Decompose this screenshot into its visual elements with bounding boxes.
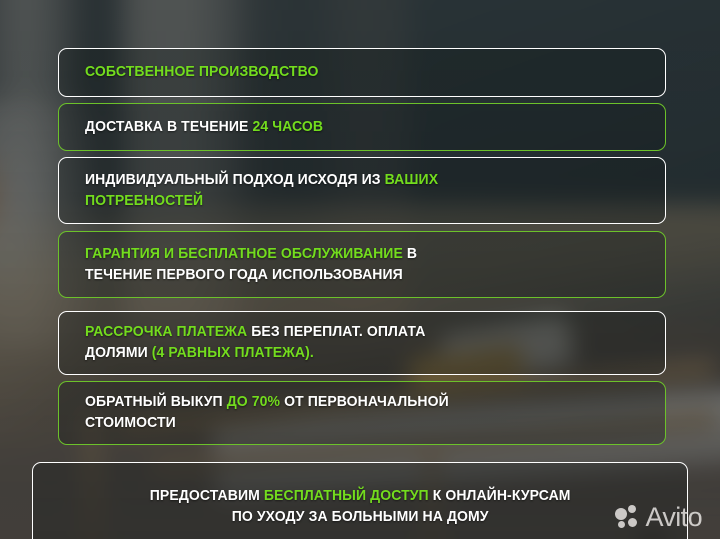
plain-text: ОБРАТНЫЙ ВЫКУП xyxy=(85,394,227,410)
highlighted-text: ДО 70% xyxy=(227,394,280,410)
plain-text: В xyxy=(403,246,417,262)
benefit-text: ДОСТАВКА В ТЕЧЕНИЕ 24 ЧАСОВ xyxy=(85,117,323,138)
plain-text: СТОИМОСТИ xyxy=(85,415,176,431)
benefit-box-delivery-24h: ДОСТАВКА В ТЕЧЕНИЕ 24 ЧАСОВ xyxy=(58,103,666,151)
highlighted-text: БЕСПЛАТНЫЙ ДОСТУП xyxy=(264,488,429,504)
benefit-box-installment-payment: РАССРОЧКА ПЛАТЕЖА БЕЗ ПЕРЕПЛАТ. ОПЛАТАДО… xyxy=(58,311,666,375)
benefit-text: ГАРАНТИЯ И БЕСПЛАТНОЕ ОБСЛУЖИВАНИЕ ВТЕЧЕ… xyxy=(85,244,417,286)
plain-text: ПО УХОДУ ЗА БОЛЬНЫМИ НА ДОМУ xyxy=(232,509,489,525)
highlighted-text: ПОТРЕБНОСТЕЙ xyxy=(85,193,203,209)
highlighted-text: ВАШИХ xyxy=(385,172,439,188)
highlighted-text: 24 ЧАСОВ xyxy=(252,119,323,135)
benefit-text: СОБСТВЕННОЕ ПРОИЗВОДСТВО xyxy=(85,62,318,83)
benefit-box-individual-approach: ИНДИВИДУАЛЬНЫЙ ПОДХОД ИСХОДЯ ИЗ ВАШИХПОТ… xyxy=(58,157,666,224)
benefit-box-free-online-courses: ПРЕДОСТАВИМ БЕСПЛАТНЫЙ ДОСТУП К ОНЛАЙН-К… xyxy=(32,462,688,539)
advertisement-card: СОБСТВЕННОЕ ПРОИЗВОДСТВОДОСТАВКА В ТЕЧЕН… xyxy=(0,0,720,539)
plain-text: ТЕЧЕНИЕ ПЕРВОГО ГОДА ИСПОЛЬЗОВАНИЯ xyxy=(85,267,403,283)
plain-text: ИНДИВИДУАЛЬНЫЙ ПОДХОД ИСХОДЯ ИЗ xyxy=(85,172,385,188)
benefit-text: ОБРАТНЫЙ ВЫКУП ДО 70% ОТ ПЕРВОНАЧАЛЬНОЙС… xyxy=(85,392,449,434)
benefit-list: СОБСТВЕННОЕ ПРОИЗВОДСТВОДОСТАВКА В ТЕЧЕН… xyxy=(0,0,720,539)
highlighted-text: СОБСТВЕННОЕ ПРОИЗВОДСТВО xyxy=(85,64,318,80)
benefit-box-warranty-free-service: ГАРАНТИЯ И БЕСПЛАТНОЕ ОБСЛУЖИВАНИЕ ВТЕЧЕ… xyxy=(58,231,666,298)
benefit-text: ПРЕДОСТАВИМ БЕСПЛАТНЫЙ ДОСТУП К ОНЛАЙН-К… xyxy=(150,486,571,528)
highlighted-text: (4 РАВНЫХ ПЛАТЕЖА). xyxy=(152,345,314,361)
highlighted-text: ГАРАНТИЯ И БЕСПЛАТНОЕ ОБСЛУЖИВАНИЕ xyxy=(85,246,403,262)
benefit-box-buyback: ОБРАТНЫЙ ВЫКУП ДО 70% ОТ ПЕРВОНАЧАЛЬНОЙС… xyxy=(58,381,666,445)
plain-text: ДОЛЯМИ xyxy=(85,345,152,361)
plain-text: К ОНЛАЙН-КУРСАМ xyxy=(429,488,571,504)
plain-text: БЕЗ ПЕРЕПЛАТ. ОПЛАТА xyxy=(247,324,425,340)
plain-text: ОТ ПЕРВОНАЧАЛЬНОЙ xyxy=(280,394,449,410)
benefit-text: ИНДИВИДУАЛЬНЫЙ ПОДХОД ИСХОДЯ ИЗ ВАШИХПОТ… xyxy=(85,170,438,212)
benefit-box-own-production: СОБСТВЕННОЕ ПРОИЗВОДСТВО xyxy=(58,48,666,97)
plain-text: ДОСТАВКА В ТЕЧЕНИЕ xyxy=(85,119,252,135)
highlighted-text: РАССРОЧКА ПЛАТЕЖА xyxy=(85,324,247,340)
benefit-text: РАССРОЧКА ПЛАТЕЖА БЕЗ ПЕРЕПЛАТ. ОПЛАТАДО… xyxy=(85,322,425,364)
plain-text: ПРЕДОСТАВИМ xyxy=(150,488,264,504)
